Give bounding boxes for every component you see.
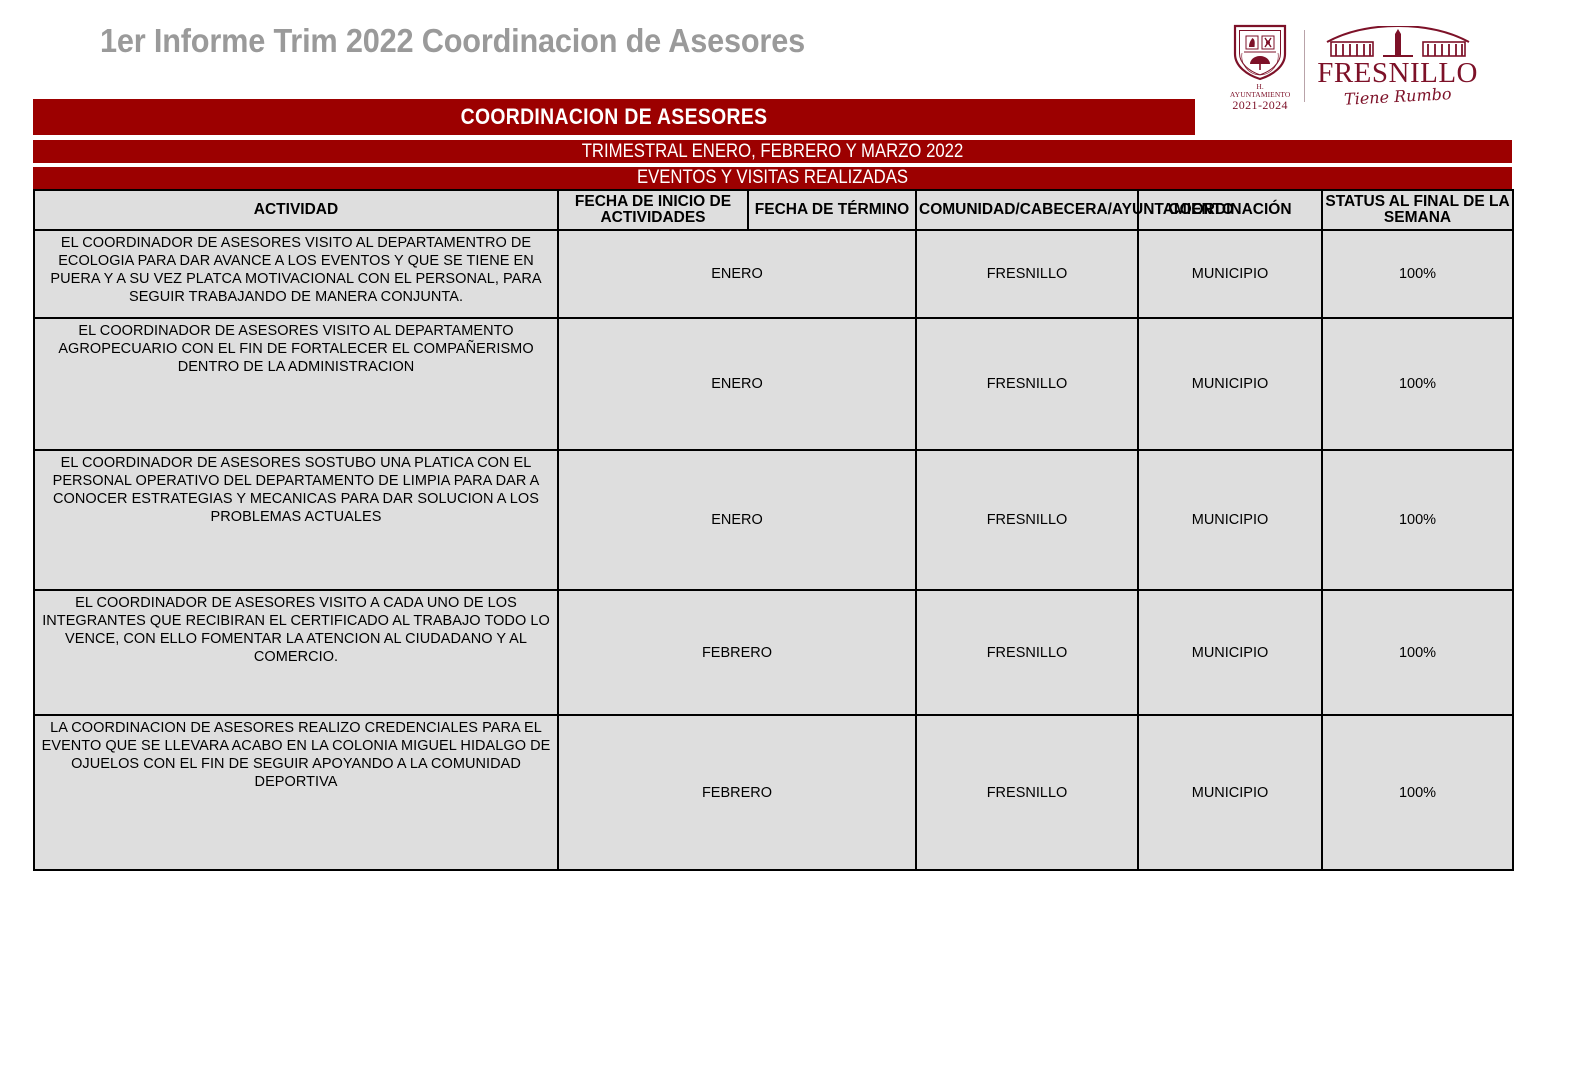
banner-section: EVENTOS Y VISITAS REALIZADAS [33,167,1512,189]
banner-section-text: EVENTOS Y VISITAS REALIZADAS [122,167,1424,189]
cell-fecha: ENERO [558,230,916,318]
brand-name: FRESNILLO [1317,59,1478,88]
banner-main-text: COORDINACION DE ASESORES [103,99,1126,135]
column-header-fecha-termino: FECHA DE TÉRMINO [748,190,916,230]
table-row: EL COORDINADOR DE ASESORES VISITO AL DEP… [34,230,1513,318]
table-body: EL COORDINADOR DE ASESORES VISITO AL DEP… [34,230,1513,870]
cell-actividad: EL COORDINADOR DE ASESORES VISITO AL DEP… [34,230,558,318]
shield-caption: H. AYUNTAMIENTO 2021-2024 [1228,83,1292,111]
brand-mark: FRESNILLO Tiene Rumbo [1317,26,1478,105]
cell-coordinacion: MUNICIPIO [1138,450,1322,590]
cell-comunidad: FRESNILLO [916,715,1138,870]
cell-comunidad: FRESNILLO [916,450,1138,590]
cell-status: 100% [1322,715,1513,870]
table-header-row: ACTIVIDAD FECHA DE INICIO DE ACTIVIDADES… [34,190,1513,230]
cell-actividad: EL COORDINADOR DE ASESORES SOSTUBO UNA P… [34,450,558,590]
column-header-actividad: ACTIVIDAD [34,190,558,230]
brand-name-text: FRESNILLO [1317,57,1478,89]
cell-coordinacion: MUNICIPIO [1138,318,1322,450]
column-header-status: STATUS AL FINAL DE LA SEMANA [1322,190,1513,230]
coat-of-arms: H. AYUNTAMIENTO 2021-2024 [1228,20,1292,111]
shield-caption-line2: 2021-2024 [1228,99,1292,112]
cell-fecha: FEBRERO [558,590,916,715]
events-and-visits-table: ACTIVIDAD FECHA DE INICIO DE ACTIVIDADES… [33,189,1514,871]
cell-status: 100% [1322,318,1513,450]
table-row: EL COORDINADOR DE ASESORES VISITO A CADA… [34,590,1513,715]
column-header-comunidad: COMUNIDAD/CABECERA/AYUNTAMIENTO [916,190,1138,230]
banner-coordinacion-de-asesores: COORDINACION DE ASESORES [33,99,1195,135]
page-title: 1er Informe Trim 2022 Coordinacion de As… [100,22,805,60]
cell-actividad: EL COORDINADOR DE ASESORES VISITO A CADA… [34,590,558,715]
logo-divider [1304,30,1305,102]
cell-comunidad: FRESNILLO [916,590,1138,715]
column-header-fecha-inicio: FECHA DE INICIO DE ACTIVIDADES [558,190,748,230]
page-header: 1er Informe Trim 2022 Coordinacion de As… [0,0,1588,95]
cell-coordinacion: MUNICIPIO [1138,230,1322,318]
cell-coordinacion: MUNICIPIO [1138,715,1322,870]
table-row: EL COORDINADOR DE ASESORES VISITO AL DEP… [34,318,1513,450]
cell-coordinacion: MUNICIPIO [1138,590,1322,715]
cell-status: 100% [1322,590,1513,715]
cell-fecha: ENERO [558,318,916,450]
cell-comunidad: FRESNILLO [916,318,1138,450]
table-header: ACTIVIDAD FECHA DE INICIO DE ACTIVIDADES… [34,190,1513,230]
banner-period: TRIMESTRAL ENERO, FEBRERO Y MARZO 2022 [33,140,1512,163]
cell-status: 100% [1322,450,1513,590]
fresnillo-logo: H. AYUNTAMIENTO 2021-2024 [1228,18,1478,113]
table-row: LA COORDINACION DE ASESORES REALIZO CRED… [34,715,1513,870]
shield-caption-line1: H. AYUNTAMIENTO [1228,83,1292,99]
cell-comunidad: FRESNILLO [916,230,1138,318]
cell-fecha: ENERO [558,450,916,590]
cell-actividad: EL COORDINADOR DE ASESORES VISITO AL DEP… [34,318,558,450]
brand-tagline: Tiene Rumbo [1343,86,1451,108]
banner-period-text: TRIMESTRAL ENERO, FEBRERO Y MARZO 2022 [122,140,1424,163]
shield-icon [1229,20,1291,82]
table-row: EL COORDINADOR DE ASESORES SOSTUBO UNA P… [34,450,1513,590]
arch-monument-icon [1323,26,1473,58]
cell-status: 100% [1322,230,1513,318]
cell-fecha: FEBRERO [558,715,916,870]
cell-actividad: LA COORDINACION DE ASESORES REALIZO CRED… [34,715,558,870]
